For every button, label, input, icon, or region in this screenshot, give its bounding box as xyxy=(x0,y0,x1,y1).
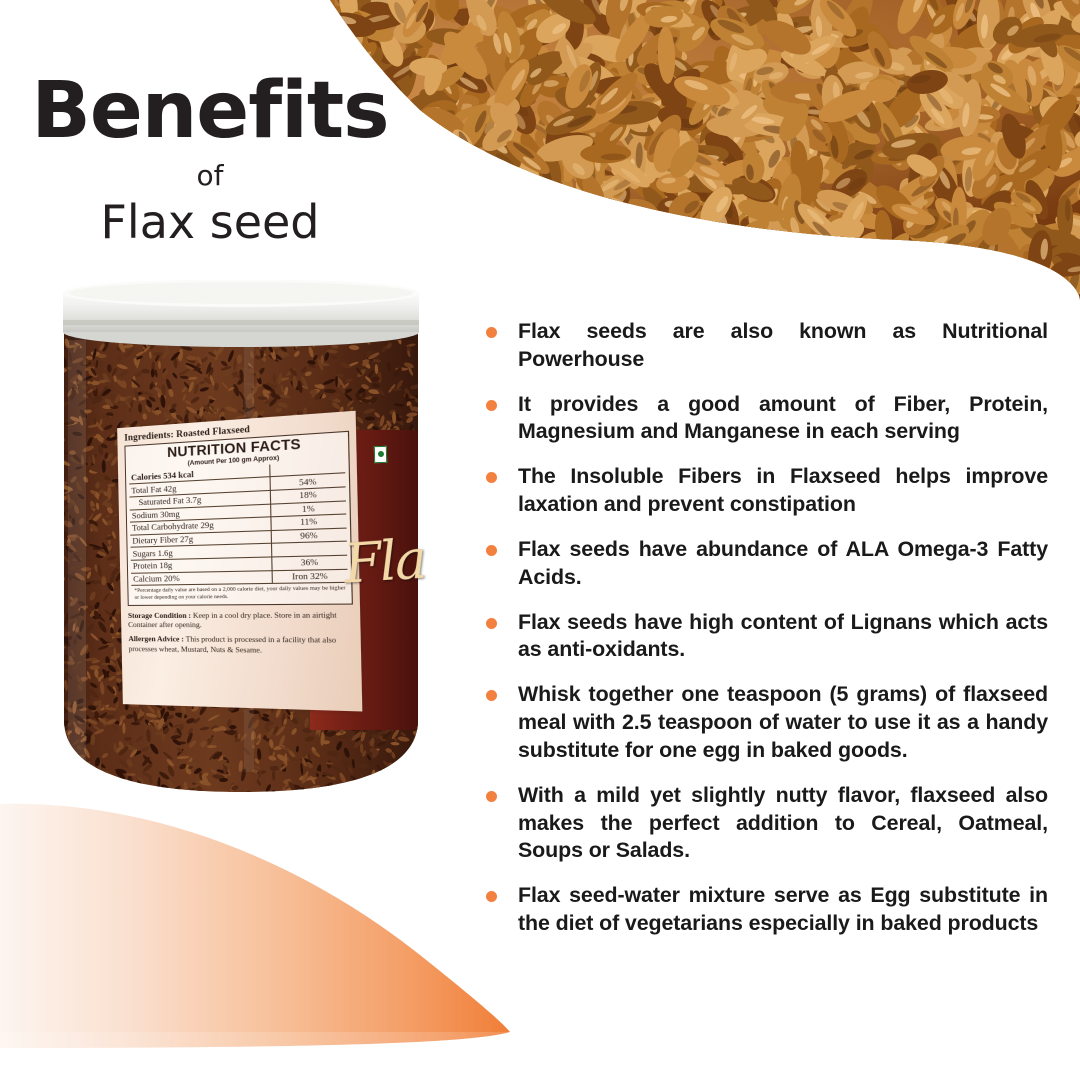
allergen-advice-label: Allergen Advice : xyxy=(128,634,184,643)
benefit-item: It provides a good amount of Fiber, Prot… xyxy=(486,391,1048,447)
label-extra-info: Storage Condition : Keep in a cool dry p… xyxy=(128,610,354,656)
benefit-item: Whisk together one teaspoon (5 grams) of… xyxy=(486,681,1048,764)
benefit-text: With a mild yet slightly nutty flavor, f… xyxy=(518,782,1048,865)
page-title: Benefits xyxy=(0,72,420,150)
nutrition-facts-table: Calories 534 kcalTotal Fat 42g54%Saturat… xyxy=(129,460,348,585)
benefit-text: Flax seeds have high content of Lignans … xyxy=(518,609,1048,665)
benefit-item: Flax seeds have high content of Lignans … xyxy=(486,609,1048,665)
benefit-text: Flax seeds have abundance of ALA Omega-3… xyxy=(518,536,1048,592)
bullet-dot-icon xyxy=(486,545,497,556)
bullet-dot-icon xyxy=(486,891,497,902)
infographic-poster: Benefits of Flax seed xyxy=(0,0,1080,1080)
vegetarian-mark-icon xyxy=(374,446,387,463)
benefit-text: The Insoluble Fibers in Flaxseed helps i… xyxy=(518,463,1048,519)
nutrition-footnote: *Percentage daily value are based on a 2… xyxy=(131,582,348,603)
bullet-dot-icon xyxy=(486,618,497,629)
storage-condition-label: Storage Condition : xyxy=(128,610,191,619)
benefit-text: Flax seeds are also known as Nutritional… xyxy=(518,318,1048,374)
benefit-text: Whisk together one teaspoon (5 grams) of… xyxy=(518,681,1048,764)
benefit-text: Flax seed-water mixture serve as Egg sub… xyxy=(518,882,1048,938)
bullet-dot-icon xyxy=(486,690,497,701)
benefit-text: It provides a good amount of Fiber, Prot… xyxy=(518,391,1048,447)
headline-subject: Flax seed xyxy=(0,198,420,246)
nutrition-row-value: Iron 32% xyxy=(272,569,347,583)
nutrition-row-value: 36% xyxy=(272,555,347,570)
benefit-item: Flax seeds are also known as Nutritional… xyxy=(486,318,1048,374)
bullet-dot-icon xyxy=(486,327,497,338)
storage-condition: Storage Condition : Keep in a cool dry p… xyxy=(128,610,354,631)
orange-wedge-decoration xyxy=(0,780,560,1080)
nutrition-label: Ingredients: Roasted Flaxseed NUTRITION … xyxy=(117,411,362,712)
benefit-item: Flax seed-water mixture serve as Egg sub… xyxy=(486,882,1048,938)
benefit-item: The Insoluble Fibers in Flaxseed helps i… xyxy=(486,463,1048,519)
allergen-advice: Allergen Advice : This product is proces… xyxy=(128,634,354,656)
benefit-item: Flax seeds have abundance of ALA Omega-3… xyxy=(486,536,1048,592)
nutrition-facts-box: NUTRITION FACTS (Amount Per 100 gm Appro… xyxy=(124,431,352,606)
product-jar-image: Ingredients: Roasted Flaxseed NUTRITION … xyxy=(58,280,424,795)
benefit-item: With a mild yet slightly nutty flavor, f… xyxy=(486,782,1048,865)
bullet-dot-icon xyxy=(486,472,497,483)
headline-connector: of xyxy=(0,162,420,190)
benefits-list: Flax seeds are also known as Nutritional… xyxy=(486,318,1048,955)
headline-block: Benefits of Flax seed xyxy=(0,72,420,246)
bullet-dot-icon xyxy=(486,791,497,802)
bullet-dot-icon xyxy=(486,400,497,411)
